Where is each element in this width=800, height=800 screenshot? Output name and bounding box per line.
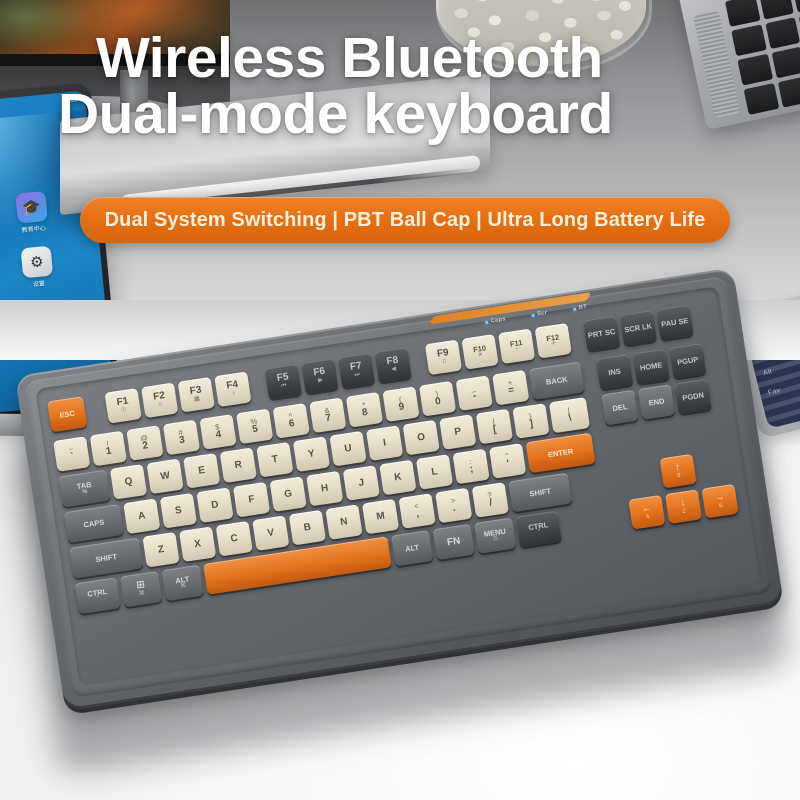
key-sublegend: ⏭ bbox=[354, 372, 360, 379]
key-sublegend: 6 bbox=[719, 503, 723, 510]
key-key[interactable]: ~` bbox=[53, 436, 90, 472]
key-legend: T bbox=[271, 454, 279, 465]
key-esc[interactable]: ESC bbox=[47, 396, 87, 432]
key-legend-top: * bbox=[362, 401, 366, 409]
key-e[interactable]: E bbox=[183, 453, 220, 489]
key-legend: L bbox=[431, 467, 439, 478]
feature-banner-text: Dual System Switching | PBT Ball Cap | U… bbox=[105, 209, 706, 232]
key-key[interactable]: :; bbox=[452, 449, 489, 485]
key-f3[interactable]: F3▦ bbox=[178, 377, 215, 413]
key-legend: G bbox=[284, 489, 293, 500]
page-title: Wireless Bluetooth Dual-mode keyboard bbox=[96, 30, 776, 143]
key-legend-top: ^ bbox=[288, 412, 293, 420]
key-legend-top: $ bbox=[215, 423, 220, 431]
key-2[interactable]: @2 bbox=[126, 425, 163, 461]
app-label: 教育中心 bbox=[21, 223, 46, 234]
key-legend: SHIFT bbox=[529, 487, 552, 498]
key-legend-top: ! bbox=[106, 440, 109, 448]
key-legend: Z bbox=[157, 544, 165, 555]
headline-line-1: Wireless Bluetooth bbox=[96, 30, 776, 86]
key-q[interactable]: Q bbox=[110, 464, 147, 500]
key-sublegend: ⏮ bbox=[281, 383, 287, 390]
key-key[interactable]: >. bbox=[435, 488, 472, 524]
key-arrow-up[interactable]: ↑8 bbox=[660, 454, 697, 489]
key-sublegend: ◀ bbox=[391, 366, 397, 373]
key-legend: SCR LK bbox=[624, 322, 653, 334]
key-f7[interactable]: F7⏭ bbox=[338, 353, 375, 389]
key-y[interactable]: Y bbox=[293, 436, 330, 472]
key-legend: U bbox=[344, 443, 353, 454]
key-legend-bottom: 0 bbox=[435, 397, 442, 408]
key-legend: V bbox=[267, 528, 275, 539]
key-legend: W bbox=[160, 471, 171, 482]
key-legend: Y bbox=[307, 449, 315, 460]
key-prt-sc[interactable]: PRT SC bbox=[583, 316, 620, 352]
key-k[interactable]: K bbox=[379, 460, 416, 496]
key-sublegend: ✕ bbox=[478, 352, 484, 359]
key-legend-bottom: 4 bbox=[215, 430, 222, 441]
key-legend-top: | bbox=[567, 406, 570, 414]
key-shift[interactable]: SHIFT bbox=[69, 538, 143, 579]
key-alt[interactable]: ALT bbox=[391, 530, 433, 566]
key-pau-se[interactable]: PAU SE bbox=[656, 305, 693, 341]
key-legend: B bbox=[303, 522, 312, 533]
key-u[interactable]: U bbox=[329, 431, 366, 467]
key-legend-top: ? bbox=[487, 491, 492, 499]
key-legend-top: # bbox=[178, 428, 183, 436]
key-legend-bottom: = bbox=[508, 386, 515, 397]
key-legend: S bbox=[174, 505, 182, 516]
key-f2[interactable]: F2☼ bbox=[141, 383, 178, 419]
key-legend-top: _ bbox=[471, 384, 476, 392]
key-legend: D bbox=[211, 500, 220, 511]
key-legend-bottom: 1 bbox=[105, 447, 112, 458]
key-legend-bottom: 5 bbox=[252, 425, 259, 436]
key-key[interactable]: ⊞⌘ bbox=[120, 571, 162, 607]
key-caps[interactable]: CAPS bbox=[64, 504, 124, 543]
key-legend-top: & bbox=[324, 406, 330, 414]
key-6[interactable]: ^6 bbox=[273, 403, 310, 439]
key-legend-top: " bbox=[505, 452, 509, 460]
key-4[interactable]: $4 bbox=[199, 414, 236, 450]
key-c[interactable]: C bbox=[216, 521, 253, 557]
key-f10[interactable]: F10✕ bbox=[461, 334, 498, 370]
key-m[interactable]: M bbox=[362, 499, 399, 535]
key-f1[interactable]: F1☉ bbox=[104, 388, 141, 424]
key-legend: SHIFT bbox=[95, 553, 118, 564]
key-pgdn[interactable]: PGDN bbox=[674, 379, 711, 415]
key-legend: R bbox=[234, 460, 243, 471]
key-arrow-down[interactable]: ↓2 bbox=[665, 489, 702, 524]
key-legend: O bbox=[417, 432, 426, 443]
app-label: 设置 bbox=[33, 278, 46, 288]
key-shift[interactable]: SHIFT bbox=[508, 473, 572, 513]
key-legend-bottom: - bbox=[472, 392, 477, 402]
key-legend-bottom: \ bbox=[568, 414, 572, 424]
phone-line: Fav bbox=[767, 383, 798, 397]
key-legend-bottom: 6 bbox=[288, 419, 295, 430]
key-legend-top: ) bbox=[435, 390, 439, 398]
key-f5[interactable]: F5⏮ bbox=[265, 364, 302, 400]
key-x[interactable]: X bbox=[179, 526, 216, 562]
key-f12[interactable]: F12＋ bbox=[535, 323, 572, 359]
key-legend-bottom: , bbox=[416, 510, 420, 520]
key-legend: C bbox=[230, 533, 239, 544]
key-legend: Q bbox=[124, 476, 133, 487]
key-legend: BACK bbox=[545, 375, 568, 386]
key-sublegend: ↹ bbox=[82, 489, 88, 496]
key-sublegend: ＋ bbox=[550, 341, 557, 348]
key-legend: ESC bbox=[59, 409, 75, 419]
key-legend: PGUP bbox=[677, 356, 699, 367]
key-scr-lk[interactable]: SCR LK bbox=[620, 310, 657, 346]
key-legend: FN bbox=[446, 536, 461, 548]
key-f8[interactable]: F8◀ bbox=[374, 347, 411, 383]
key-j[interactable]: J bbox=[343, 465, 380, 501]
key-sublegend: ▶ bbox=[318, 378, 324, 385]
key-sublegend: − bbox=[515, 347, 519, 354]
key-i[interactable]: I bbox=[366, 425, 403, 461]
key-f6[interactable]: F6▶ bbox=[301, 358, 338, 394]
key-tab[interactable]: TAB↹ bbox=[58, 470, 110, 508]
key-legend: ENTER bbox=[547, 447, 573, 458]
phone-line: All bbox=[763, 363, 794, 377]
key-sublegend: 2 bbox=[682, 508, 686, 515]
key-f9[interactable]: F9♫ bbox=[425, 340, 462, 376]
key-sublegend: 8 bbox=[677, 473, 681, 480]
gear-icon: ⚙ bbox=[20, 246, 53, 279]
key-sublegend: ♫ bbox=[442, 359, 447, 366]
key-legend-top: > bbox=[450, 497, 455, 505]
key-legend: CAPS bbox=[83, 518, 105, 529]
key-legend-top: @ bbox=[140, 434, 149, 443]
key-del[interactable]: DEL bbox=[601, 390, 638, 426]
key-sublegend: ⌃ bbox=[536, 529, 542, 536]
key-sublegend: ▦ bbox=[194, 396, 201, 403]
key-fn[interactable]: FN bbox=[433, 524, 475, 560]
key-end[interactable]: END bbox=[638, 384, 675, 420]
key-key[interactable]: ?/ bbox=[472, 482, 509, 518]
key-g[interactable]: G bbox=[270, 476, 307, 512]
key-o[interactable]: O bbox=[403, 420, 440, 456]
key-arrow-left[interactable]: ←4 bbox=[628, 495, 665, 530]
key-sublegend: ☉ bbox=[121, 407, 127, 414]
key-ins[interactable]: INS bbox=[596, 354, 633, 390]
key-0[interactable]: )0 bbox=[419, 381, 456, 417]
key-sublegend: 4 bbox=[646, 514, 650, 521]
key-legend: E bbox=[198, 465, 206, 476]
key-arrow-right[interactable]: →6 bbox=[702, 484, 739, 519]
key-home[interactable]: HOME bbox=[633, 349, 670, 385]
key-key[interactable]: += bbox=[492, 370, 529, 406]
key-a[interactable]: A bbox=[123, 498, 160, 534]
key-legend: A bbox=[138, 511, 147, 522]
key-1[interactable]: !1 bbox=[90, 431, 127, 467]
key-legend-top: < bbox=[414, 502, 419, 510]
key-f[interactable]: F bbox=[233, 482, 270, 518]
key-key[interactable]: "' bbox=[489, 443, 526, 479]
key-h[interactable]: H bbox=[306, 471, 343, 507]
key-legend-bottom: 8 bbox=[361, 408, 368, 419]
key-legend: INS bbox=[608, 367, 621, 376]
key-key[interactable]: _- bbox=[456, 375, 493, 411]
key-v[interactable]: V bbox=[252, 515, 289, 551]
key-r[interactable]: R bbox=[220, 447, 257, 483]
headline-line-2: Dual-mode keyboard bbox=[58, 86, 776, 142]
key-legend: HOME bbox=[639, 361, 662, 372]
key-legend-bottom: 7 bbox=[325, 414, 332, 425]
key-z[interactable]: Z bbox=[142, 532, 179, 568]
key-legend: J bbox=[358, 478, 365, 489]
key-9[interactable]: (9 bbox=[382, 386, 419, 422]
key-legend: END bbox=[648, 397, 665, 407]
key-legend: N bbox=[340, 517, 349, 528]
key-legend-bottom: . bbox=[452, 504, 456, 514]
key-d[interactable]: D bbox=[196, 487, 233, 523]
key-legend-bottom: / bbox=[489, 499, 493, 509]
key-legend: PRT SC bbox=[587, 328, 615, 340]
key-legend-bottom: 9 bbox=[398, 403, 405, 414]
key-w[interactable]: W bbox=[146, 459, 183, 495]
key-legend: I bbox=[383, 438, 387, 448]
key-legend: M bbox=[376, 511, 386, 522]
key-legend: ALT bbox=[405, 543, 420, 553]
key-key[interactable]: }] bbox=[512, 403, 549, 439]
key-legend-bottom: 3 bbox=[179, 436, 186, 447]
key-legend: X bbox=[194, 539, 202, 550]
key-legend-top: { bbox=[492, 418, 496, 426]
key-sublegend: ⌃ bbox=[95, 596, 101, 603]
key-ctrl[interactable]: CTRL⌃ bbox=[75, 577, 121, 614]
key-legend-top: ~ bbox=[68, 445, 73, 453]
key-n[interactable]: N bbox=[325, 504, 362, 540]
key-s[interactable]: S bbox=[160, 493, 197, 529]
key-legend: PGDN bbox=[682, 391, 705, 402]
key-legend-bottom: ' bbox=[506, 460, 510, 470]
key-3[interactable]: #3 bbox=[163, 420, 200, 456]
key-legend: H bbox=[320, 483, 329, 494]
app-education-center[interactable]: 🎓 教育中心 bbox=[15, 191, 49, 235]
key-legend-bottom: ; bbox=[469, 465, 474, 475]
key-legend-top: + bbox=[507, 379, 512, 387]
app-settings[interactable]: ⚙ 设置 bbox=[20, 246, 54, 290]
key-7[interactable]: &7 bbox=[309, 398, 346, 434]
key-legend: K bbox=[394, 472, 403, 483]
product-advertisement: Contacts Call All Fav 信号 10:13 🎓 教育中心 ⚙ bbox=[0, 0, 800, 800]
key-legend: PAU SE bbox=[661, 317, 689, 329]
key-t[interactable]: T bbox=[256, 442, 293, 478]
key-enter[interactable]: ENTER bbox=[526, 433, 596, 474]
key-legend-bottom: ] bbox=[529, 420, 534, 430]
key-legend-top: } bbox=[528, 412, 532, 420]
key-legend-bottom: 2 bbox=[142, 441, 149, 452]
key-legend-bottom: ` bbox=[70, 453, 75, 463]
key-key[interactable]: <, bbox=[399, 493, 436, 529]
feature-banner: Dual System Switching | PBT Ball Cap | U… bbox=[80, 197, 730, 243]
key-sublegend: ☰ bbox=[493, 536, 499, 543]
key-b[interactable]: B bbox=[289, 510, 326, 546]
key-legend-top: % bbox=[250, 417, 258, 425]
key-pgup[interactable]: PGUP bbox=[669, 343, 706, 379]
key-legend: DEL bbox=[612, 403, 628, 413]
graduation-cap-icon: 🎓 bbox=[15, 191, 48, 224]
key-legend: P bbox=[454, 427, 462, 438]
key-p[interactable]: P bbox=[439, 414, 476, 450]
key-legend-top: : bbox=[469, 458, 472, 466]
key-sublegend: ☼ bbox=[157, 402, 163, 409]
key-f4[interactable]: F4♪ bbox=[214, 371, 251, 407]
key-back[interactable]: BACK bbox=[529, 361, 585, 399]
key-8[interactable]: *8 bbox=[346, 392, 383, 428]
key-ctrl[interactable]: CTRL⌃ bbox=[516, 511, 562, 548]
key-sublegend: ♪ bbox=[232, 391, 236, 398]
key-5[interactable]: %5 bbox=[236, 409, 273, 445]
key-sublegend: ⌘ bbox=[139, 591, 146, 598]
key-sublegend: ⌘ bbox=[180, 583, 187, 590]
key-key[interactable]: |\ bbox=[549, 397, 590, 433]
key-legend-top: ( bbox=[398, 395, 402, 403]
key-alt[interactable]: ALT⌘ bbox=[162, 565, 204, 601]
key-legend: F bbox=[248, 494, 256, 505]
key-l[interactable]: L bbox=[416, 454, 453, 490]
key-menu[interactable]: MENU☰ bbox=[474, 517, 516, 553]
key-matrix[interactable]: ESCF1☉F2☼F3▦F4♪F5⏮F6▶F7⏭F8◀F9♫F10✕F11−F1… bbox=[47, 301, 753, 676]
key-f11[interactable]: F11− bbox=[498, 329, 535, 365]
key-legend-bottom: [ bbox=[493, 425, 498, 435]
bluetooth-indicator-label: BT bbox=[579, 304, 588, 311]
key-key[interactable]: {[ bbox=[476, 409, 513, 445]
